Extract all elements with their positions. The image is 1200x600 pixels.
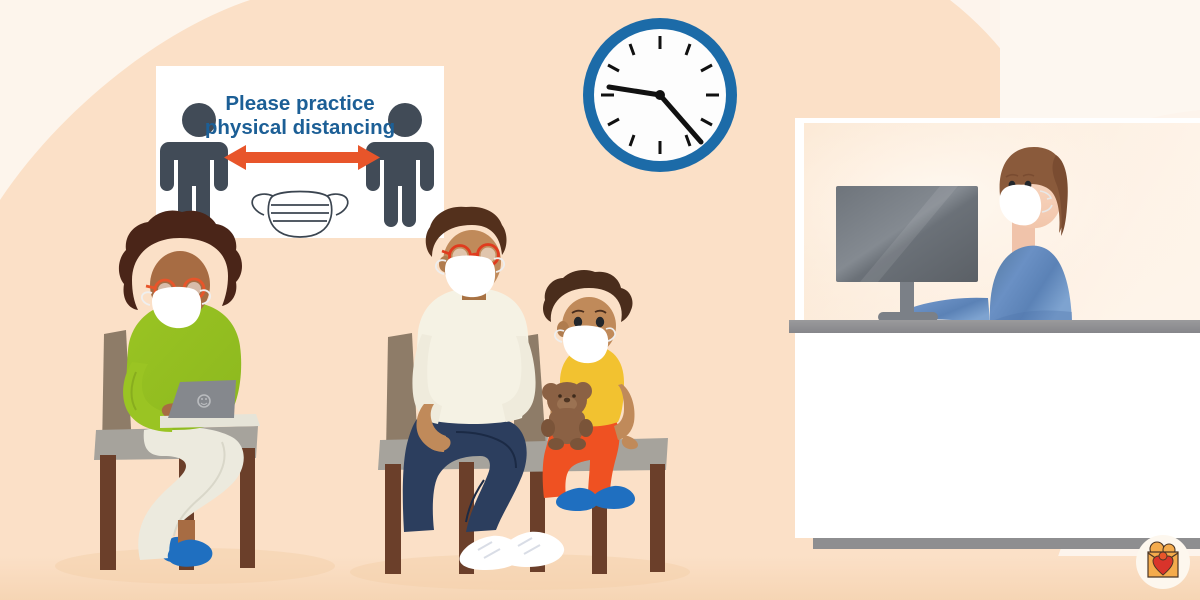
poster-line-1: Please practice — [225, 92, 374, 115]
teddy-eye-right — [572, 394, 576, 398]
brand-logo-badge[interactable] — [1136, 535, 1190, 589]
partition-frame-left — [795, 118, 804, 324]
partition-frame-top — [795, 118, 1200, 123]
teddy-nose — [564, 398, 570, 403]
teddy-leg-right — [570, 438, 586, 450]
chair-left-leg-front — [100, 455, 116, 570]
poster-line-2: physical distancing — [205, 116, 395, 139]
chair-middle-leg-front — [385, 464, 401, 574]
chair-right-leg-back — [650, 464, 665, 572]
waiting-room-illustration: Please practice physical distancing — [0, 0, 1200, 600]
teddy-eye-left — [558, 394, 562, 398]
teddy-arm-left — [541, 419, 555, 437]
monitor-stand-neck — [900, 282, 914, 316]
desk-front-panel — [795, 333, 1200, 538]
laptop-logo-eye-left — [201, 398, 203, 400]
child-eye-right — [596, 317, 604, 327]
teddy-arm-right — [579, 419, 593, 437]
wall-clock[interactable] — [583, 18, 737, 172]
laptop-logo-eye-right — [205, 398, 207, 400]
reception-desk[interactable] — [789, 118, 1200, 549]
desk-countertop — [789, 320, 1200, 333]
logo-mark — [1148, 542, 1178, 577]
clock-center-pin — [655, 90, 665, 100]
teddy-leg-left — [548, 438, 564, 450]
